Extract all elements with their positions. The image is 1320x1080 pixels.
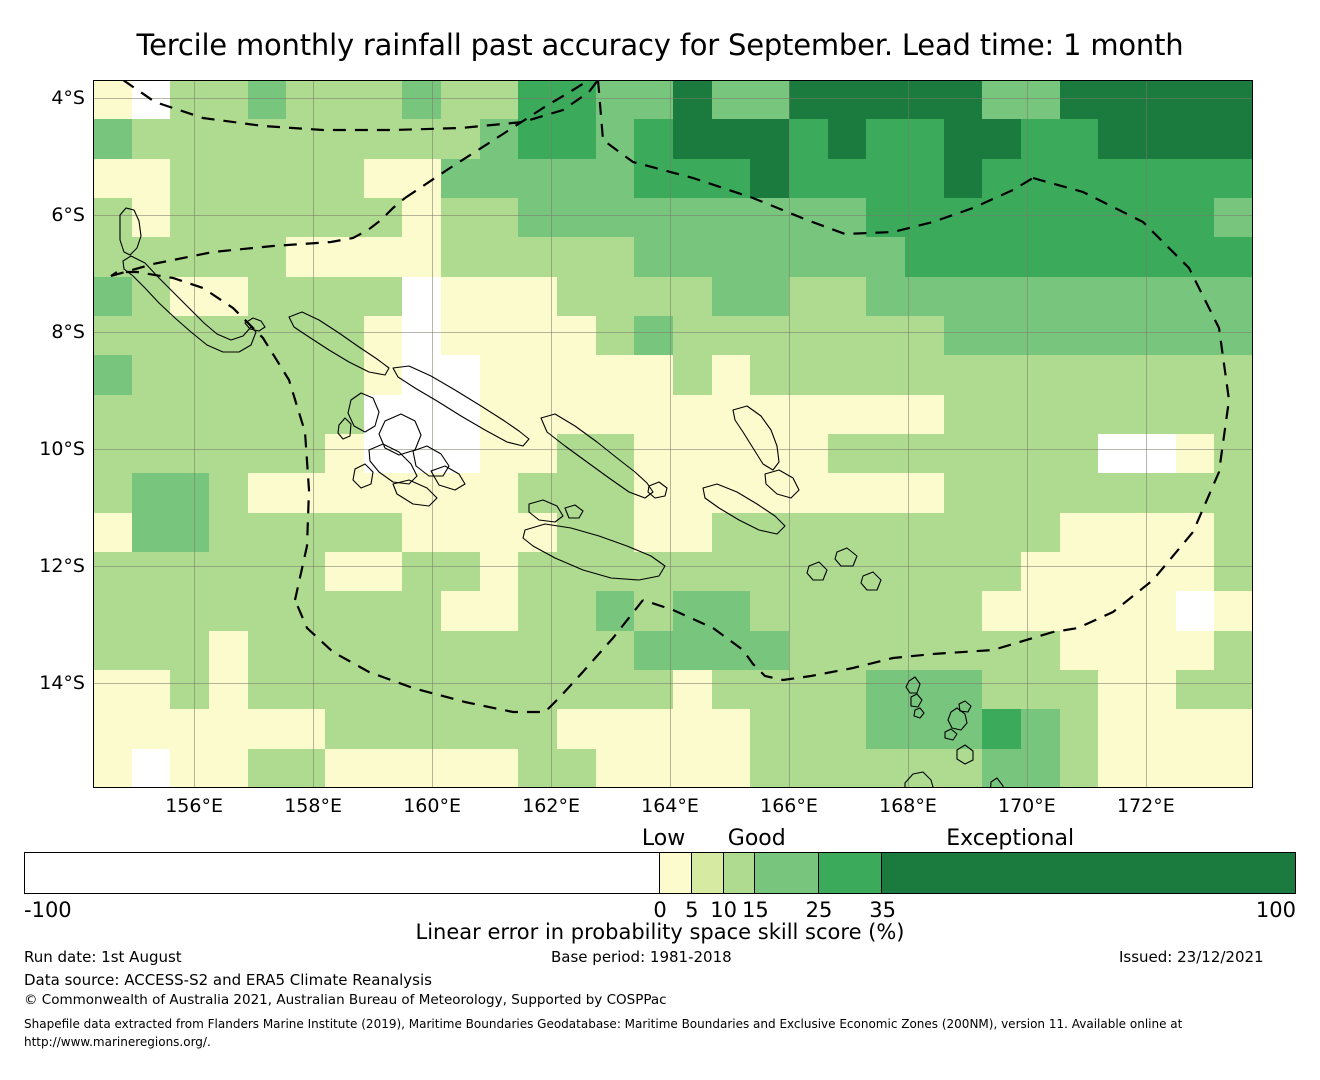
colorbar-category-label: Good (728, 826, 786, 851)
x-axis-tick-label: 164°E (641, 795, 699, 817)
colorbar-segment (692, 853, 724, 893)
map-panel[interactable] (93, 80, 1253, 788)
x-axis-tick-label: 158°E (284, 795, 342, 817)
colorbar-category-label: Low (642, 826, 685, 851)
x-axis-tick-label: 166°E (760, 795, 818, 817)
colorbar-axis-label: Linear error in probability space skill … (0, 920, 1320, 944)
y-axis-tick-label: 8°S (51, 321, 85, 343)
colorbar-segment (819, 853, 883, 893)
colorbar-tick-label: 100 (1256, 898, 1296, 922)
colorbar-tick-label: 25 (806, 898, 833, 922)
copyright-text: © Commonwealth of Australia 2021, Austra… (24, 992, 667, 1008)
colorbar-tick-label: 0 (653, 898, 666, 922)
run-date-text: Run date: 1st August (24, 948, 182, 966)
x-axis-tick-label: 172°E (1117, 795, 1175, 817)
colorbar-tick-label: 10 (710, 898, 737, 922)
colorbar-segment (724, 853, 756, 893)
map-canvas (93, 80, 1253, 788)
shapefile-note-line2: http://www.marineregions.org/. (24, 1035, 211, 1049)
colorbar-segment (25, 853, 660, 893)
colorbar-tick-label: 35 (869, 898, 896, 922)
colorbar-segment (660, 853, 692, 893)
colorbar-tick-label: 15 (742, 898, 769, 922)
eez-boundary-layer (93, 80, 1253, 788)
colorbar-tick-label: 5 (685, 898, 698, 922)
base-period-text: Base period: 1981-2018 (551, 948, 732, 966)
page-title: Tercile monthly rainfall past accuracy f… (0, 28, 1320, 62)
issued-date-text: Issued: 23/12/2021 (1119, 948, 1264, 966)
y-axis-tick-label: 12°S (39, 555, 85, 577)
colorbar-segment (755, 853, 819, 893)
y-axis-tick-label: 6°S (51, 204, 85, 226)
data-source-text: Data source: ACCESS-S2 and ERA5 Climate … (24, 971, 432, 989)
x-axis-tick-label: 156°E (165, 795, 223, 817)
x-axis-tick-label: 160°E (403, 795, 461, 817)
y-axis-tick-label: 4°S (51, 87, 85, 109)
figure-root: Tercile monthly rainfall past accuracy f… (0, 0, 1320, 1080)
x-axis-tick-label: 170°E (998, 795, 1056, 817)
y-axis-tick-label: 14°S (39, 672, 85, 694)
colorbar[interactable] (24, 852, 1296, 894)
y-axis-tick-label: 10°S (39, 438, 85, 460)
x-axis-tick-label: 168°E (879, 795, 937, 817)
shapefile-note-line1: Shapefile data extracted from Flanders M… (24, 1017, 1182, 1031)
colorbar-category-label: Exceptional (946, 826, 1074, 851)
colorbar-segment (882, 853, 1295, 893)
colorbar-tick-label: -100 (24, 898, 72, 922)
colorbar-gradient (24, 852, 1296, 894)
x-axis-tick-label: 162°E (522, 795, 580, 817)
